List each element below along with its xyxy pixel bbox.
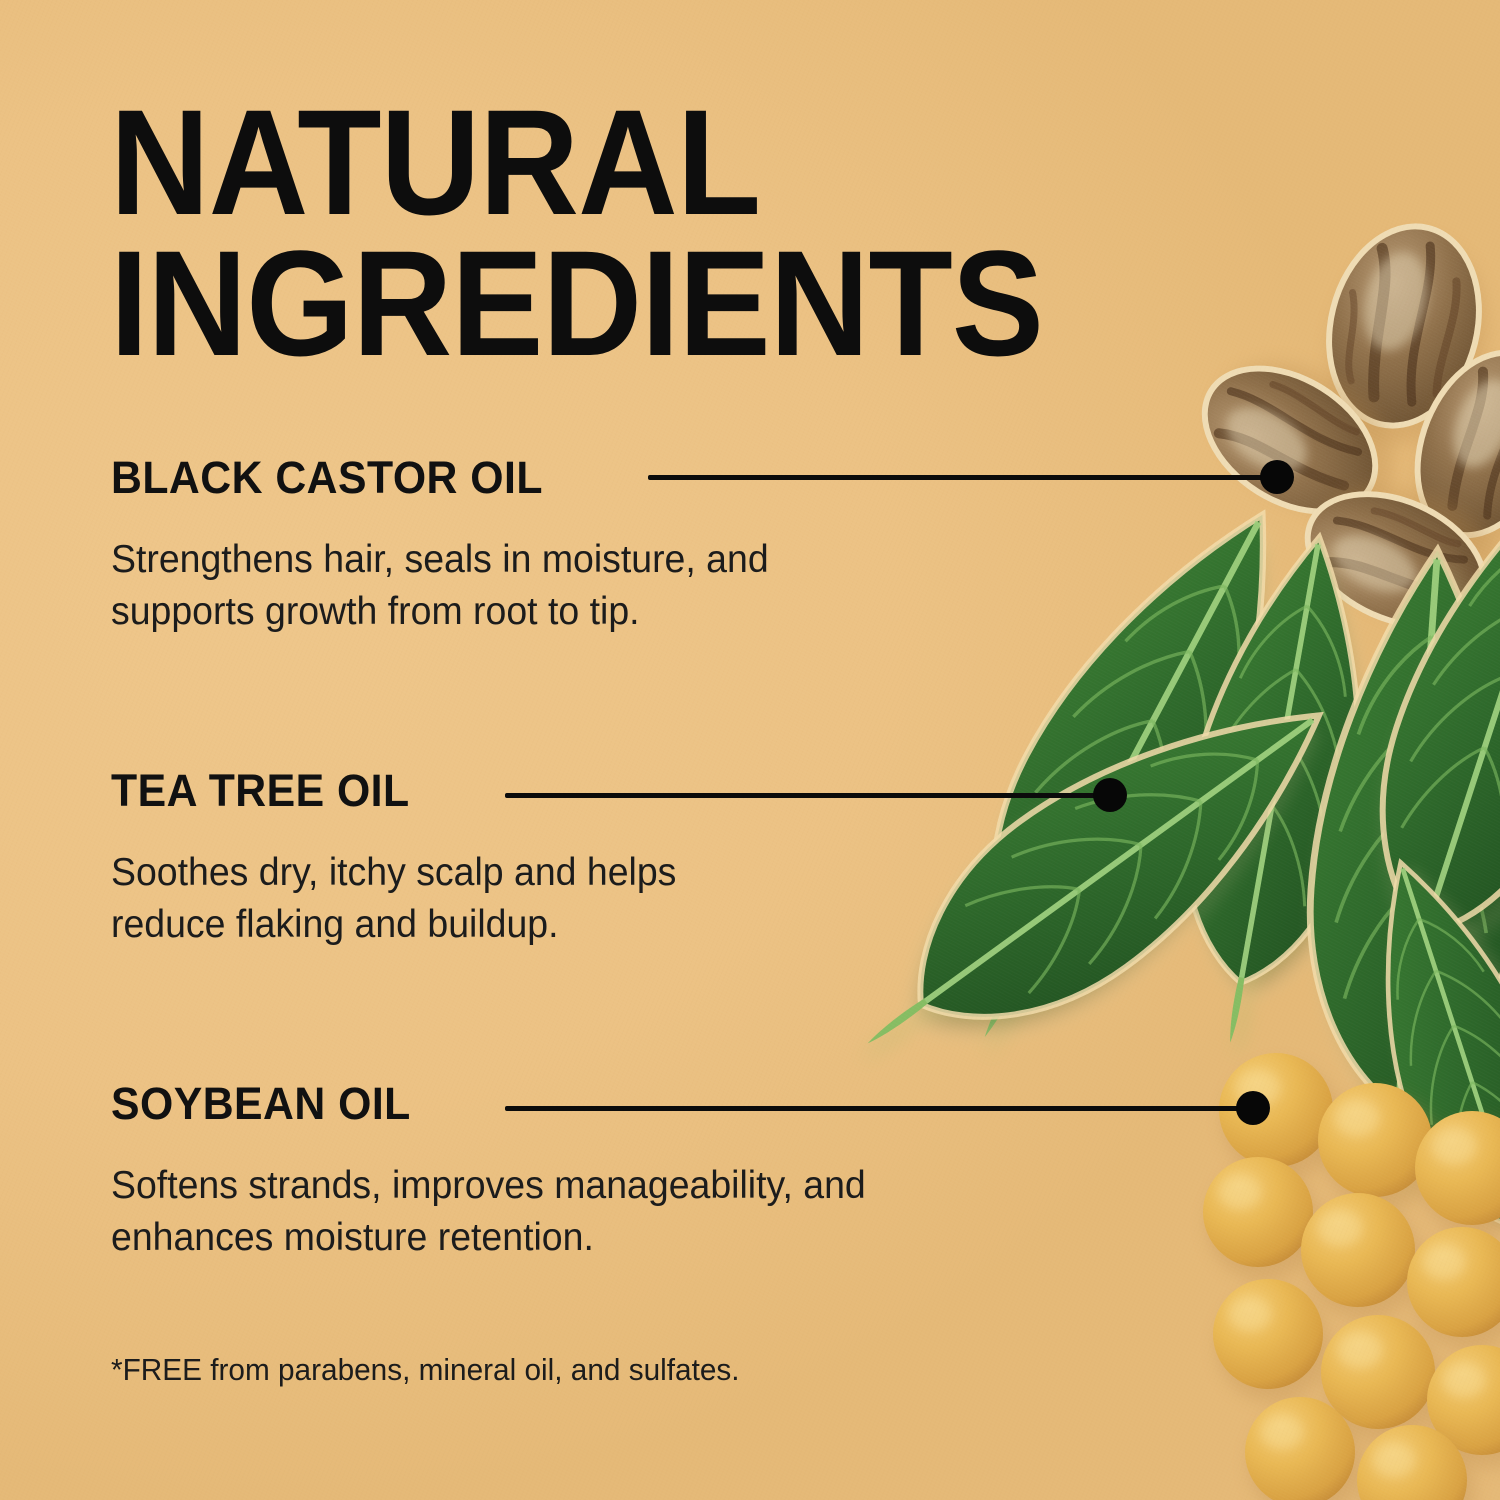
free-from-footnote: *FREE from parabens, mineral oil, and su… xyxy=(111,1352,740,1388)
ingredient-block-black-castor-oil: BLACK CASTOR OIL Strengthens hair, seals… xyxy=(111,452,796,638)
ingredient-description-tea-tree-oil: Soothes dry, itchy scalp and helps reduc… xyxy=(111,847,676,951)
ingredient-name-soybean-oil: SOYBEAN OIL xyxy=(111,1078,858,1130)
ingredient-description-soybean-oil: Softens strands, improves manageability,… xyxy=(111,1160,866,1264)
ingredient-description-black-castor-oil: Strengthens hair, seals in moisture, and… xyxy=(111,534,769,638)
ingredient-block-tea-tree-oil: TEA TREE OIL Soothes dry, itchy scalp an… xyxy=(111,765,700,951)
ingredient-block-soybean-oil: SOYBEAN OIL Softens strands, improves ma… xyxy=(111,1078,897,1264)
infographic-canvas: NATURAL INGREDIENTS BLACK CASTOR OIL Str… xyxy=(0,0,1500,1500)
ingredient-name-black-castor-oil: BLACK CASTOR OIL xyxy=(111,452,762,504)
page-title: NATURAL INGREDIENTS xyxy=(110,92,1043,374)
ingredient-name-tea-tree-oil: TEA TREE OIL xyxy=(111,765,671,817)
text-layer: NATURAL INGREDIENTS BLACK CASTOR OIL Str… xyxy=(0,0,1500,1500)
